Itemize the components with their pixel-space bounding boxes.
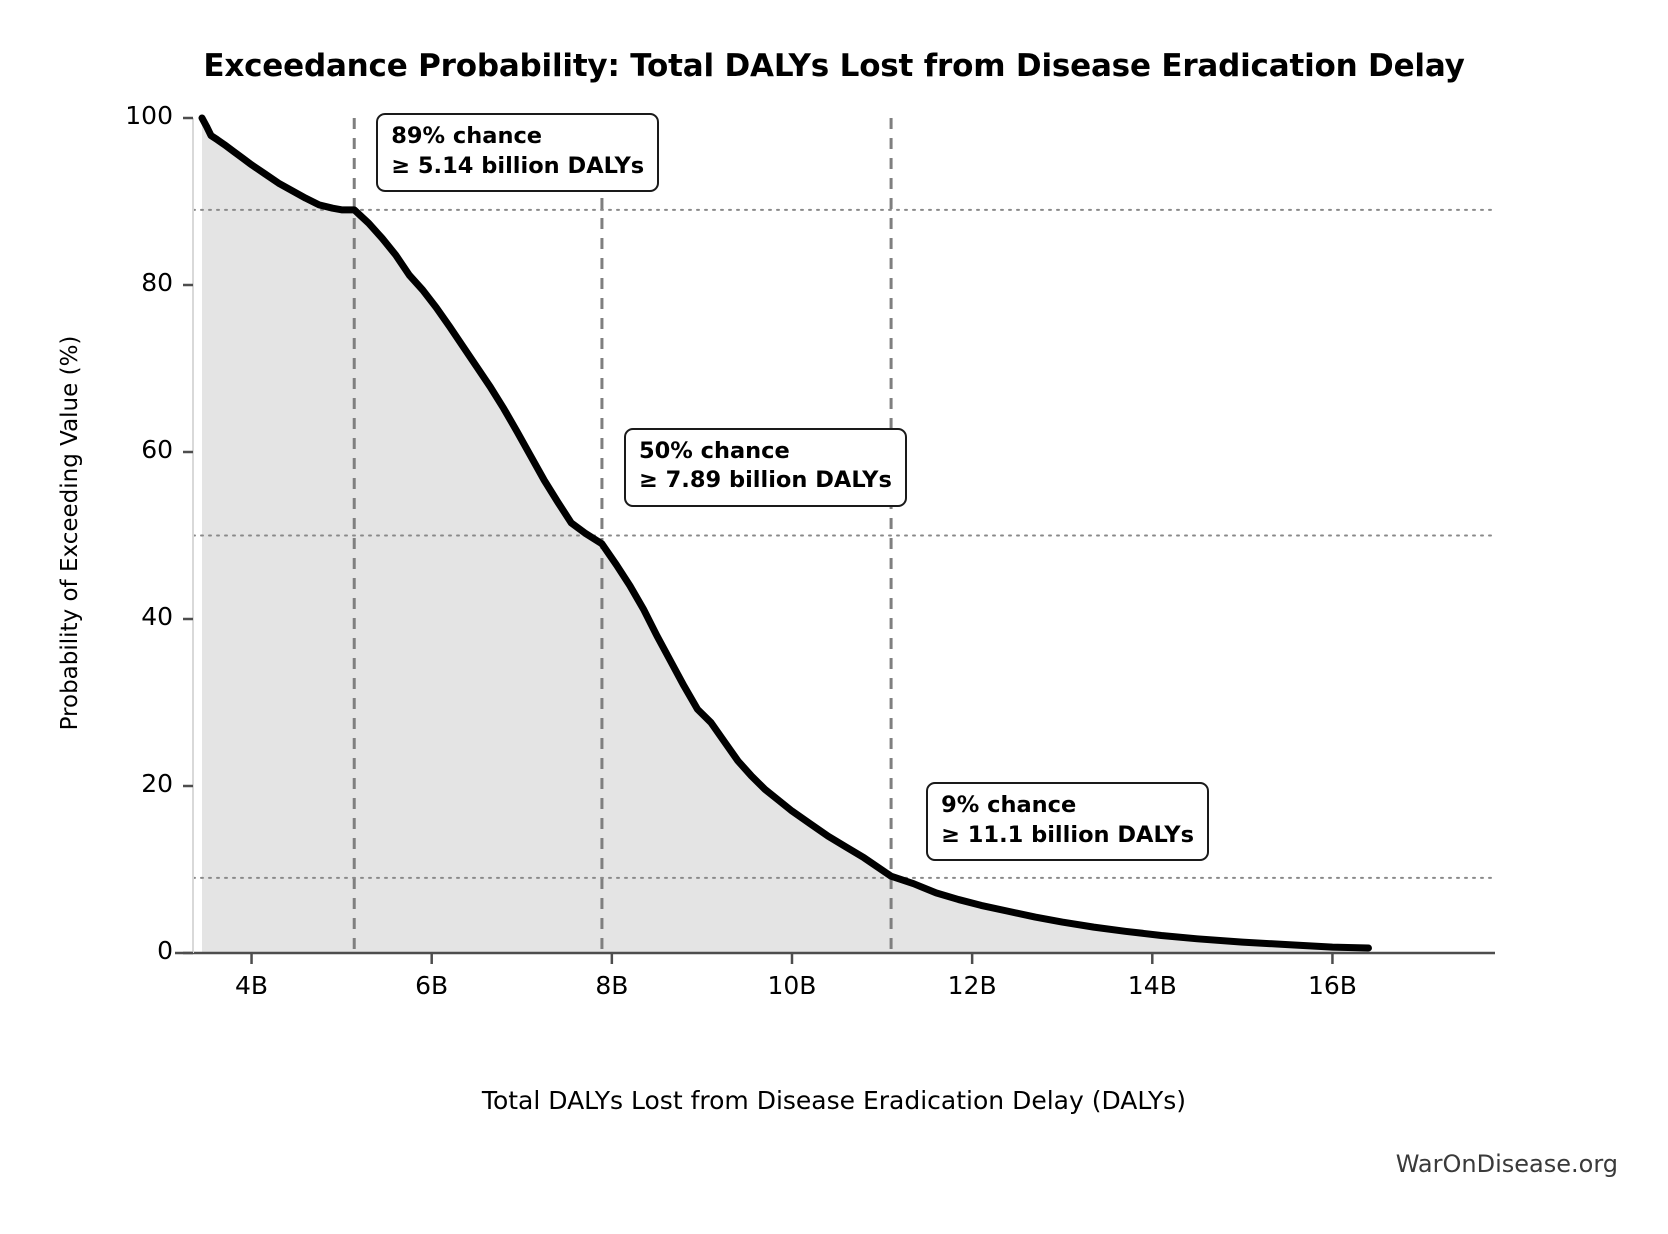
- y-tick-label: 40: [83, 602, 173, 631]
- chart-title: Exceedance Probability: Total DALYs Lost…: [0, 48, 1668, 84]
- x-tick-label: 14B: [1092, 971, 1212, 1000]
- x-tick-label: 16B: [1272, 971, 1392, 1000]
- y-tick-label: 60: [83, 435, 173, 464]
- y-axis-label: Probability of Exceeding Value (%): [57, 153, 83, 913]
- annotation-box-50: 50% chance ≥ 7.89 billion DALYs: [624, 428, 907, 507]
- x-axis-label: Total DALYs Lost from Disease Eradicatio…: [0, 1086, 1668, 1115]
- footer-credit: WarOnDisease.org: [1396, 1150, 1618, 1178]
- annotation-line2: ≥ 5.14 billion DALYs: [391, 152, 644, 182]
- plot-area: [0, 0, 1668, 1234]
- x-tick-label: 6B: [372, 971, 492, 1000]
- annotation-box-89: 89% chance ≥ 5.14 billion DALYs: [376, 113, 659, 192]
- annotation-box-9: 9% chance ≥ 11.1 billion DALYs: [926, 782, 1209, 861]
- annotation-line1: 9% chance: [941, 791, 1194, 821]
- annotation-line2: ≥ 11.1 billion DALYs: [941, 821, 1194, 851]
- x-tick-label: 4B: [192, 971, 312, 1000]
- annotation-line1: 50% chance: [639, 437, 892, 467]
- y-tick-label: 80: [83, 268, 173, 297]
- chart-figure: Exceedance Probability: Total DALYs Lost…: [0, 0, 1668, 1234]
- x-tick-label: 10B: [732, 971, 852, 1000]
- annotation-line2: ≥ 7.89 billion DALYs: [639, 466, 892, 496]
- y-tick-label: 0: [83, 936, 173, 965]
- y-tick-label: 100: [83, 101, 173, 130]
- annotation-line1: 89% chance: [391, 122, 644, 152]
- y-tick-label: 20: [83, 769, 173, 798]
- x-tick-label: 8B: [552, 971, 672, 1000]
- x-tick-label: 12B: [912, 971, 1032, 1000]
